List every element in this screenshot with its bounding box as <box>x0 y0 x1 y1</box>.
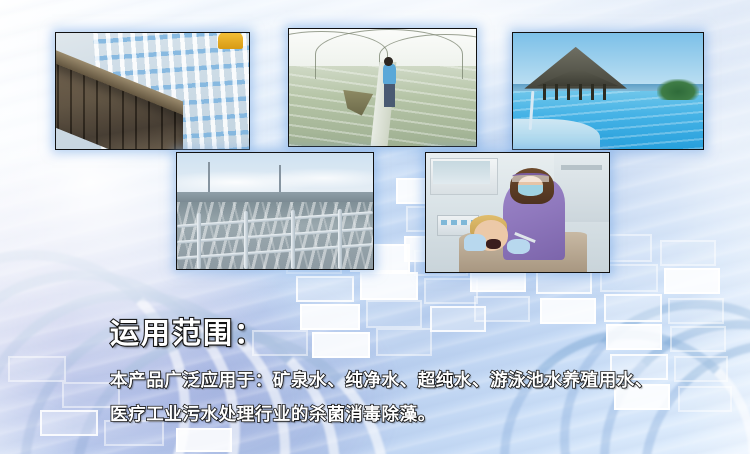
section-heading: 运用范围： <box>110 318 670 350</box>
application-paragraph-line-2: 医疗工业污水处理行业的杀菌消毒除藻。 <box>110 398 670 432</box>
product-application-banner: 运用范围： 本产品广泛应用于：矿泉水、纯净水、超纯水、游泳池水养殖用水、 医疗工… <box>0 0 750 454</box>
swimming-pool-scene <box>513 33 703 149</box>
photo-aquaculture-greenhouse-pond <box>288 28 477 147</box>
aquaculture-pond-scene <box>289 29 476 146</box>
photo-dental-clinic-treatment <box>425 152 610 273</box>
photo-wastewater-treatment-plant <box>176 152 374 270</box>
dental-clinic-scene <box>426 153 609 272</box>
application-paragraph-line-1: 本产品广泛应用于：矿泉水、纯净水、超纯水、游泳池水养殖用水、 <box>110 364 670 398</box>
photo-resort-swimming-pool <box>512 32 704 150</box>
photo-bottled-water-production-line <box>55 32 250 150</box>
application-text-block: 运用范围： 本产品广泛应用于：矿泉水、纯净水、超纯水、游泳池水养殖用水、 医疗工… <box>110 318 670 432</box>
application-paragraph: 本产品广泛应用于：矿泉水、纯净水、超纯水、游泳池水养殖用水、 医疗工业污水处理行… <box>110 364 670 432</box>
bottled-water-scene <box>56 33 249 149</box>
wastewater-treatment-scene <box>177 153 373 269</box>
